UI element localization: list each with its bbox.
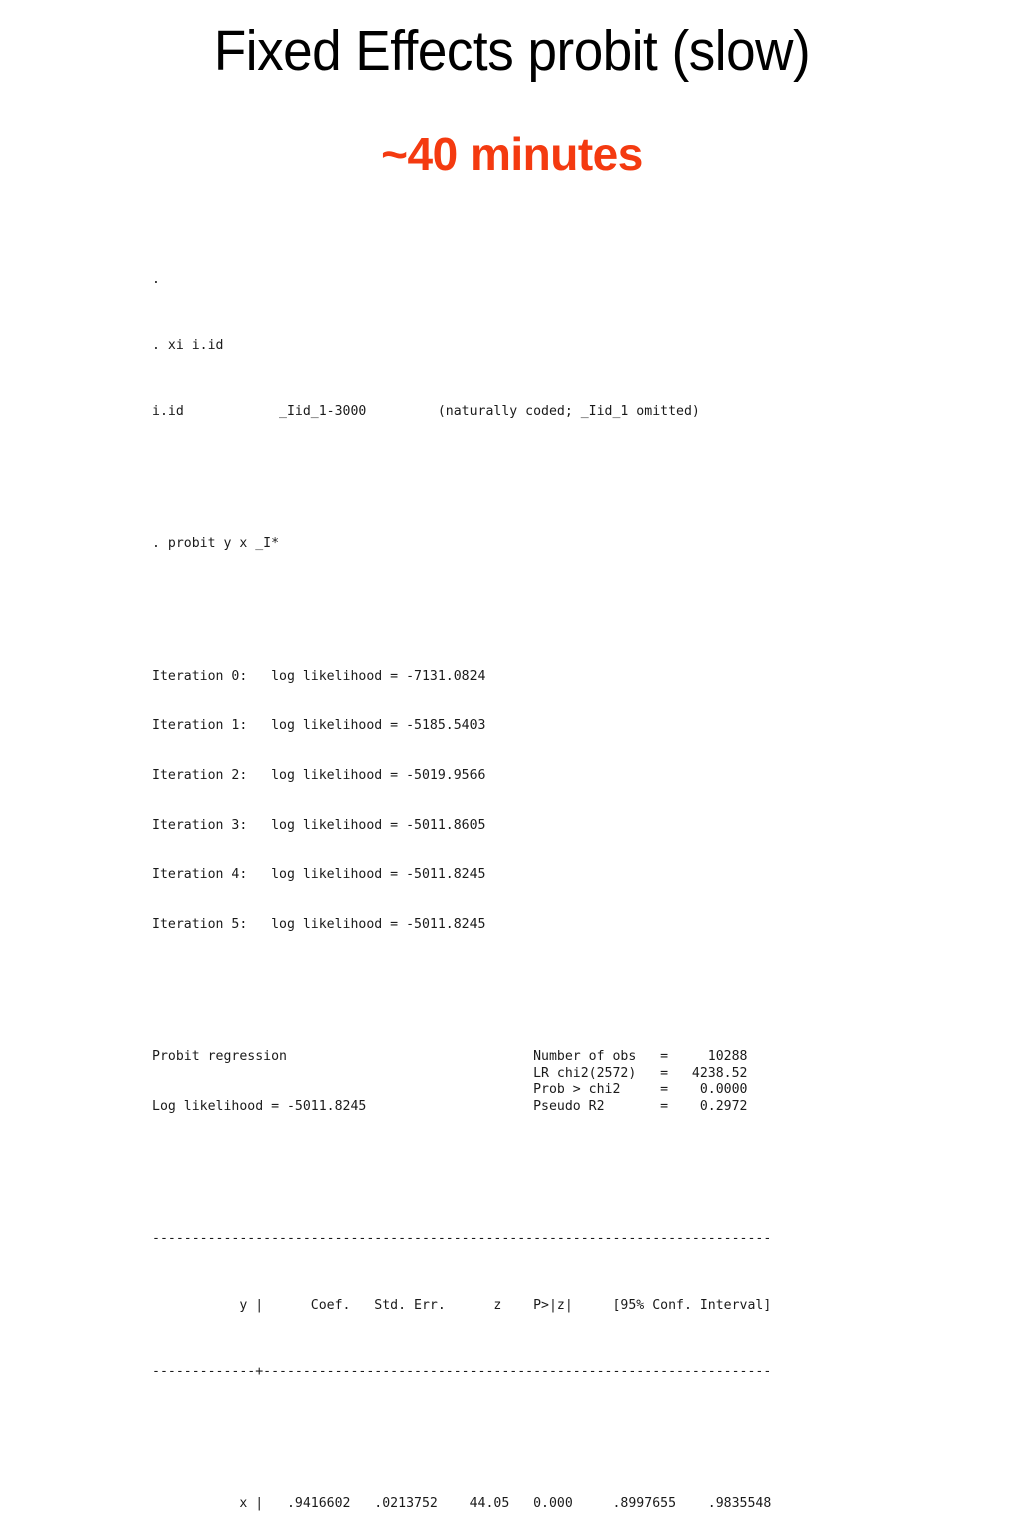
console-command-probit: . probit y x _I*: [152, 536, 852, 553]
page-title: Fixed Effects probit (slow): [36, 14, 988, 88]
regression-summary-block: Probit regression Number of obs = 10288 …: [152, 1049, 852, 1115]
spacer: [152, 1430, 852, 1447]
iteration-line-1: Iteration 1: log likelihood = -5185.5403: [152, 718, 852, 735]
runtime-subtitle: ~40 minutes: [0, 126, 1024, 182]
table-header-row: y | Coef. Std. Err. z P>|z| [95% Conf. I…: [152, 1298, 852, 1315]
table-top-rule: ----------------------------------------…: [152, 1231, 852, 1248]
iteration-line-4: Iteration 4: log likelihood = -5011.8245: [152, 867, 852, 884]
iteration-line-3: Iteration 3: log likelihood = -5011.8605: [152, 818, 852, 835]
iteration-line-5: Iteration 5: log likelihood = -5011.8245: [152, 917, 852, 934]
table-mid-rule: -------------+--------------------------…: [152, 1364, 852, 1381]
table-row: x | .9416602 .0213752 44.05 0.000 .89976…: [152, 1496, 852, 1513]
console-xi-result: i.id _Iid_1-3000 (naturally coded; _Iid_…: [152, 404, 852, 421]
console-command-xi: . xi i.id: [152, 338, 852, 355]
stata-output-block: . . xi i.id i.id _Iid_1-3000 (naturally …: [152, 222, 852, 1536]
spacer: [152, 470, 852, 487]
iteration-line-0: Iteration 0: log likelihood = -7131.0824: [152, 669, 852, 686]
iteration-line-2: Iteration 2: log likelihood = -5019.9566: [152, 768, 852, 785]
spacer: [152, 983, 852, 1000]
spacer: [152, 1165, 852, 1182]
console-prompt-blank: .: [152, 272, 852, 289]
spacer: [152, 603, 852, 620]
